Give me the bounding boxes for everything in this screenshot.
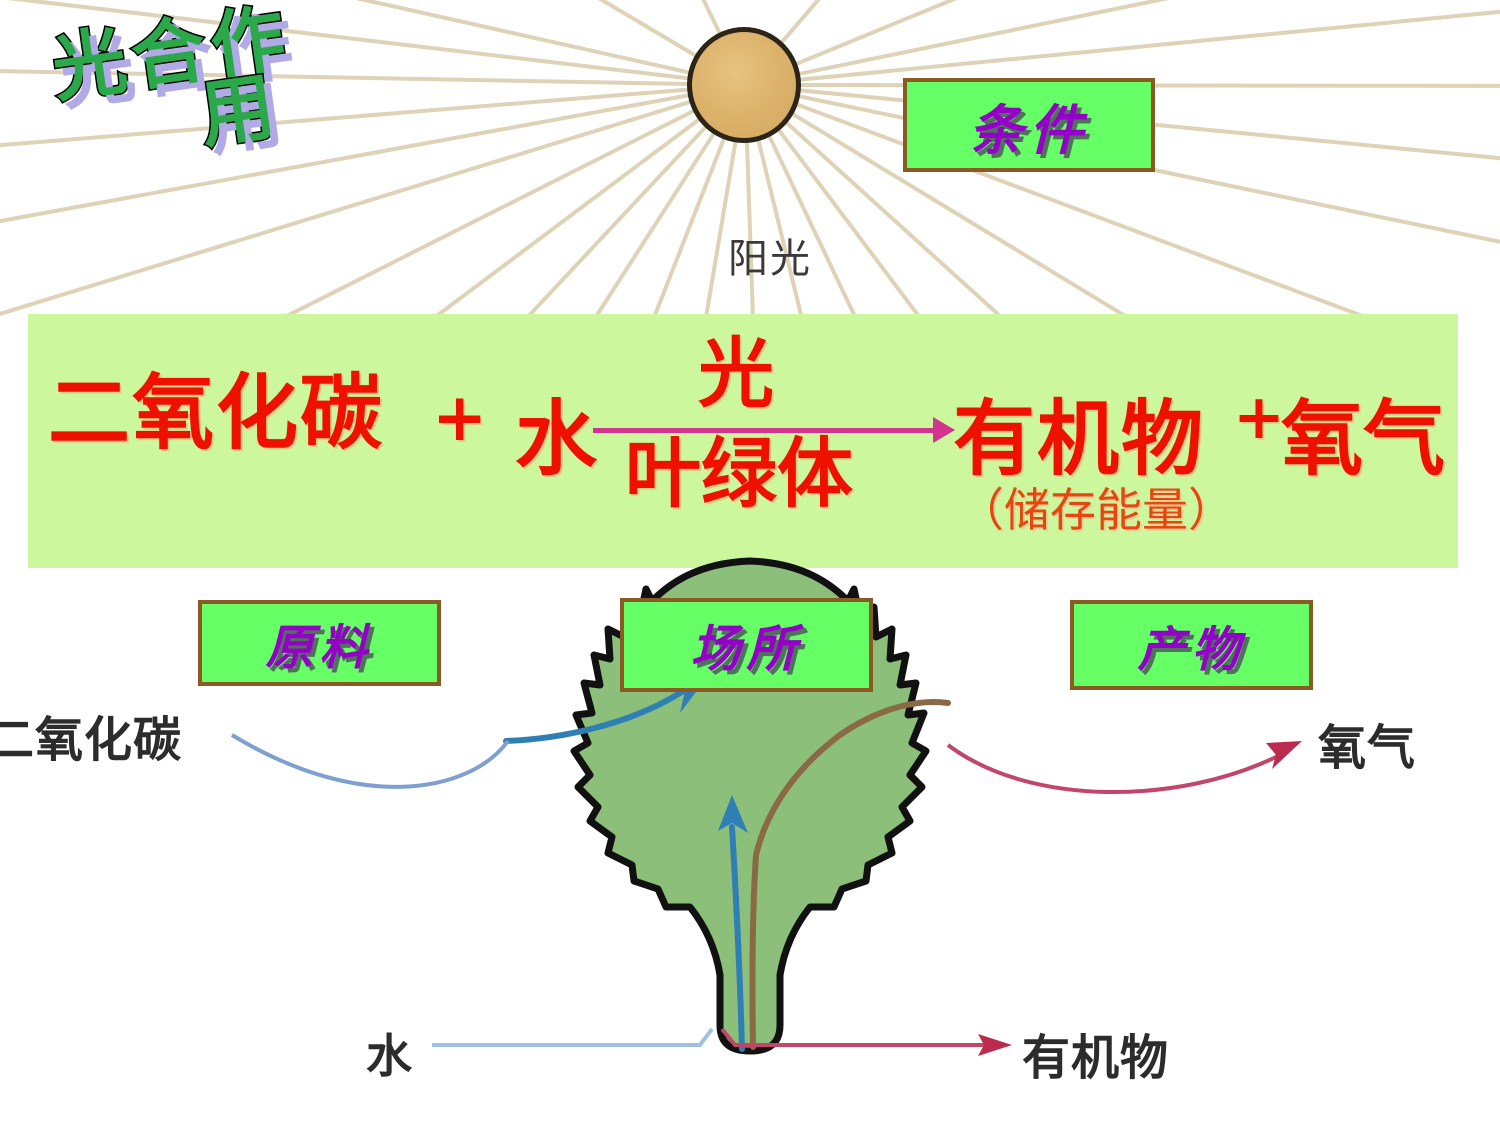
sun-icon	[687, 27, 801, 143]
equation-energy-note: （储存能量）	[958, 474, 1234, 540]
equation-arrow-over-light: 光	[698, 336, 774, 412]
photosynthesis-diagram: 阳光 光合作 用 条件 二氧化碳 + 水 光 叶绿体 有机物 + 氧气 （储存能…	[0, 0, 1500, 1125]
label-box-condition-text: 条件	[969, 86, 1089, 165]
flow-label-oxygen: 氧气	[1318, 708, 1416, 778]
equation-arrow-group: 光 叶绿体	[593, 332, 943, 512]
flow-label-organic: 有机物	[1022, 1018, 1169, 1088]
label-box-place-text: 场所	[691, 609, 803, 681]
equation-plus-1: +	[432, 378, 487, 456]
label-box-material-text: 原料	[265, 608, 373, 678]
label-box-place[interactable]: 场所	[620, 598, 873, 692]
equation-reactant-water: 水	[515, 372, 597, 491]
equation-product-oxygen: 氧气	[1281, 372, 1445, 491]
flow-label-water: 水	[366, 1020, 413, 1086]
sunlight-label: 阳光	[700, 226, 840, 284]
label-box-condition[interactable]: 条件	[903, 78, 1155, 172]
equation-reactant-co2: 二氧化碳	[48, 372, 384, 454]
equation-plus-2: +	[1233, 380, 1285, 453]
flow-label-co2: 二氧化碳	[0, 700, 182, 770]
label-box-material[interactable]: 原料	[198, 600, 441, 686]
label-box-product-text: 产物	[1137, 610, 1245, 680]
label-box-product[interactable]: 产物	[1070, 600, 1313, 690]
page-title-line-2: 用	[196, 71, 285, 152]
equation-arrow-under-chloroplast: 叶绿体	[625, 436, 853, 512]
equation-arrow-head	[933, 417, 955, 443]
equation-banner: 二氧化碳 + 水 光 叶绿体 有机物 + 氧气 （储存能量）	[28, 314, 1458, 568]
